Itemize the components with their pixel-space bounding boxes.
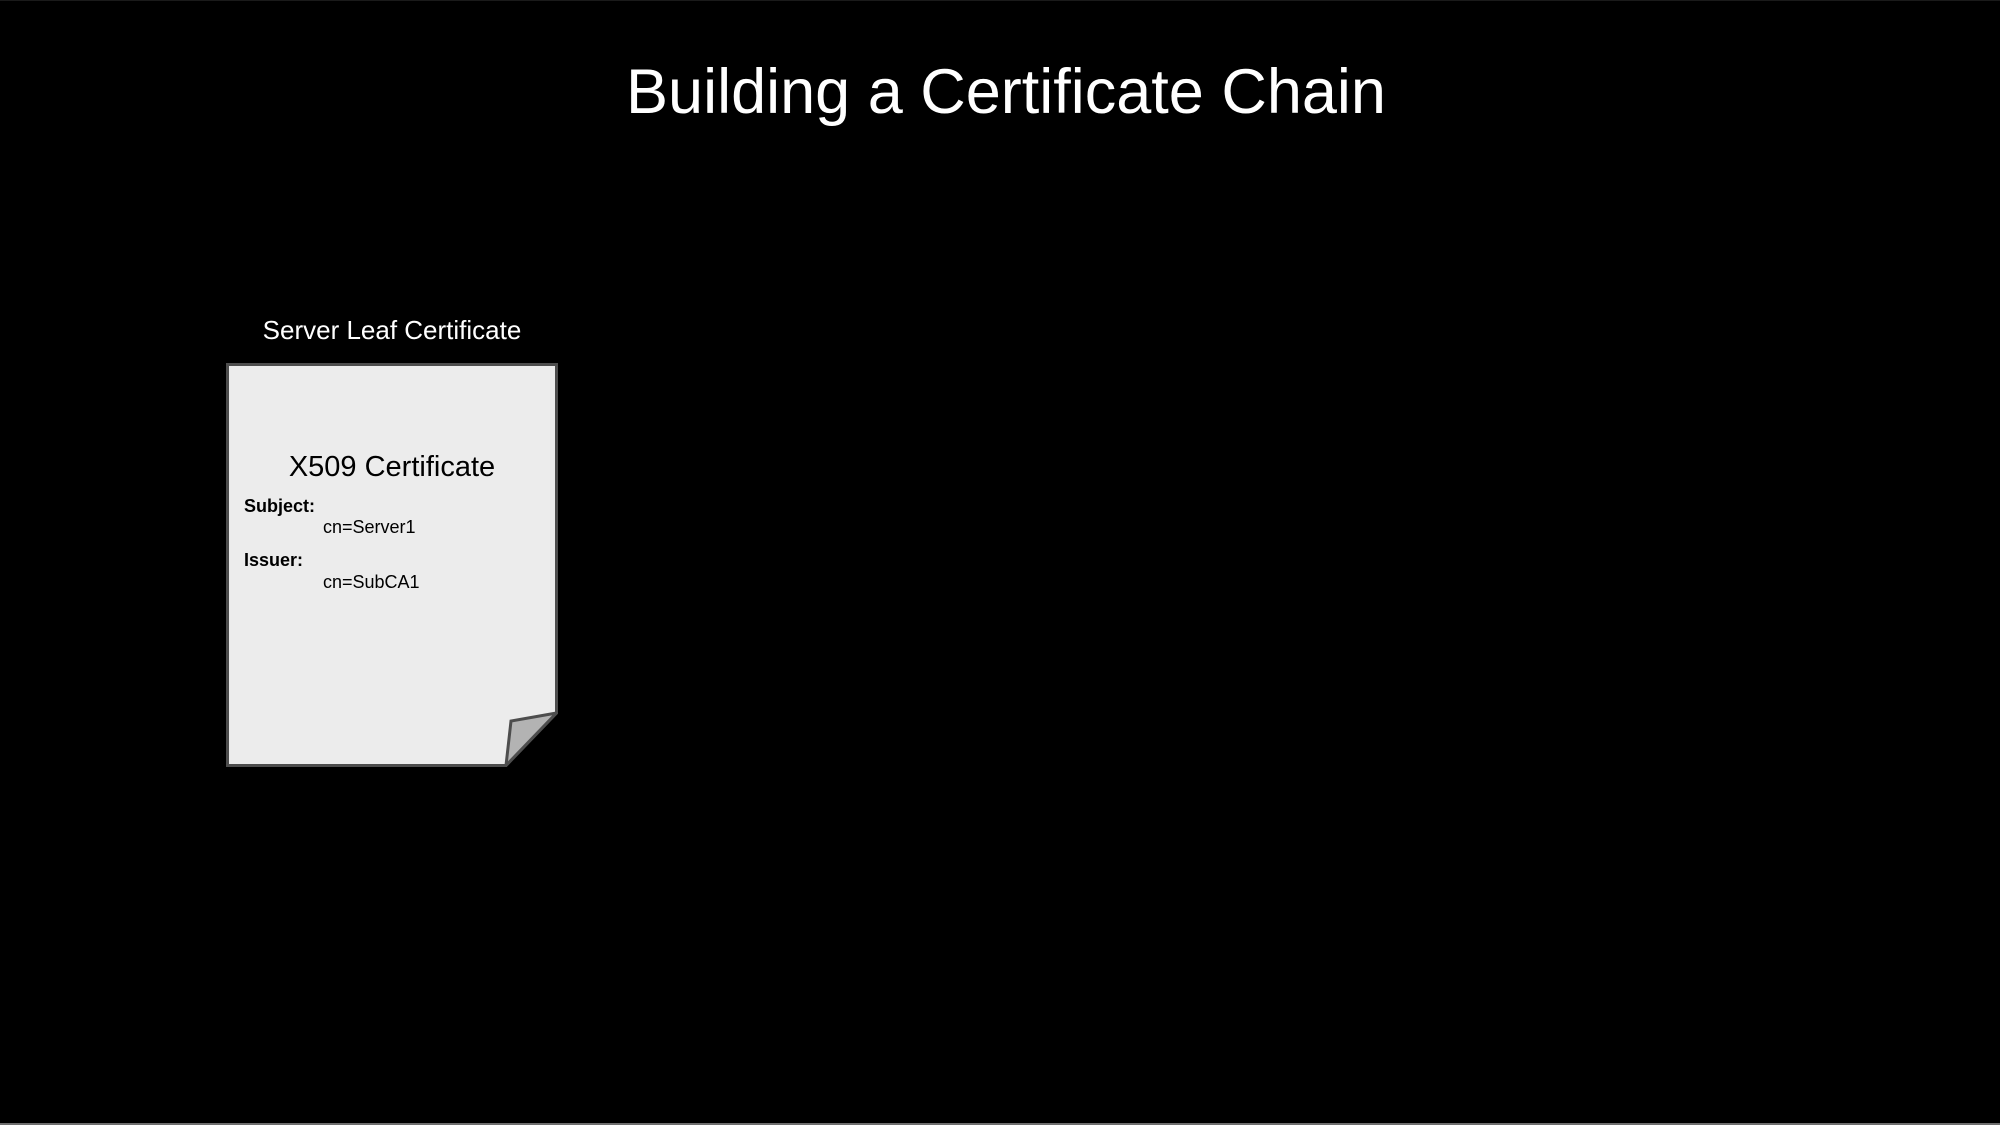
- certificate-document-shape[interactable]: [226, 363, 558, 767]
- certificate-node-leaf[interactable]: Server Leaf Certificate X509 Certificate…: [226, 314, 566, 774]
- certificate-caption: Server Leaf Certificate: [182, 314, 602, 346]
- slide-canvas: Building a Certificate Chain Server Leaf…: [0, 0, 2000, 1125]
- document-folded-corner-icon: [226, 363, 558, 767]
- page-title: Building a Certificate Chain: [0, 54, 2000, 130]
